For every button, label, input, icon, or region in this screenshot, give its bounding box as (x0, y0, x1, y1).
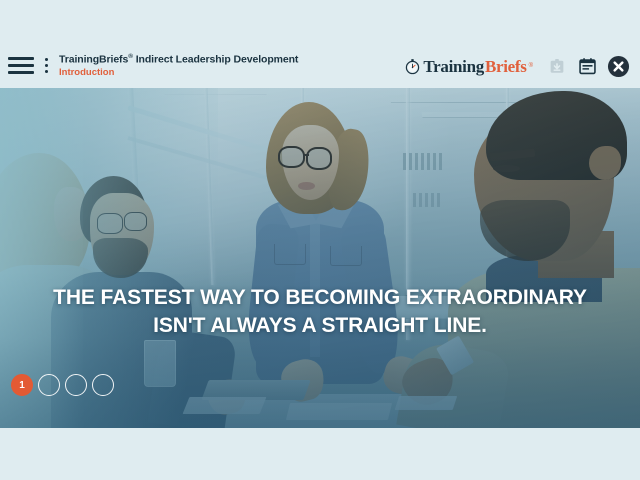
logo-word-briefs: Briefs (485, 58, 527, 75)
pagination-dot-1[interactable]: 1 (11, 374, 33, 396)
hamburger-bar-3 (8, 71, 34, 74)
logo-trademark-icon: ® (529, 63, 533, 69)
section-label: Introduction (59, 68, 298, 79)
course-title: TrainingBriefs® Indirect Leadership Deve… (59, 53, 298, 66)
kebab-dot-3 (45, 70, 48, 73)
hamburger-icon[interactable] (8, 56, 34, 76)
slide-headline: THE FASTEST WAY TO BECOMING EXTRAORDINAR… (0, 284, 640, 340)
header-left-group: TrainingBriefs® Indirect Leadership Deve… (8, 53, 298, 78)
course-title-rest: Indirect Leadership Development (133, 54, 298, 66)
download-icon[interactable] (545, 55, 568, 78)
course-title-brand: TrainingBriefs (59, 54, 128, 66)
headline-line-2: ISN'T ALWAYS A STRAIGHT LINE. (28, 312, 612, 340)
close-icon[interactable] (607, 55, 630, 78)
pagination-dot-2[interactable]: 2 (38, 374, 60, 396)
kebab-dot-2 (45, 64, 48, 67)
trainingbriefs-logo: TrainingBriefs® (404, 58, 533, 75)
headline-line-1: THE FASTEST WAY TO BECOMING EXTRAORDINAR… (53, 286, 587, 309)
kebab-menu-icon[interactable] (39, 55, 53, 77)
hamburger-bar-1 (8, 57, 34, 60)
player-header: TrainingBriefs® Indirect Leadership Deve… (0, 44, 640, 88)
kebab-dot-1 (45, 58, 48, 61)
logo-word-training: Training (423, 58, 484, 75)
slide-pagination: 1 2 3 4 (11, 374, 114, 396)
pagination-dot-4[interactable]: 4 (92, 374, 114, 396)
course-player-window: TrainingBriefs® Indirect Leadership Deve… (0, 0, 640, 480)
header-right-group: TrainingBriefs® (404, 55, 630, 78)
slide-stage: THE FASTEST WAY TO BECOMING EXTRAORDINAR… (0, 88, 640, 428)
stopwatch-icon (404, 58, 421, 75)
notes-icon[interactable] (576, 55, 599, 78)
pagination-dot-3[interactable]: 3 (65, 374, 87, 396)
hamburger-bar-2 (8, 64, 34, 67)
header-titles: TrainingBriefs® Indirect Leadership Deve… (59, 53, 298, 78)
